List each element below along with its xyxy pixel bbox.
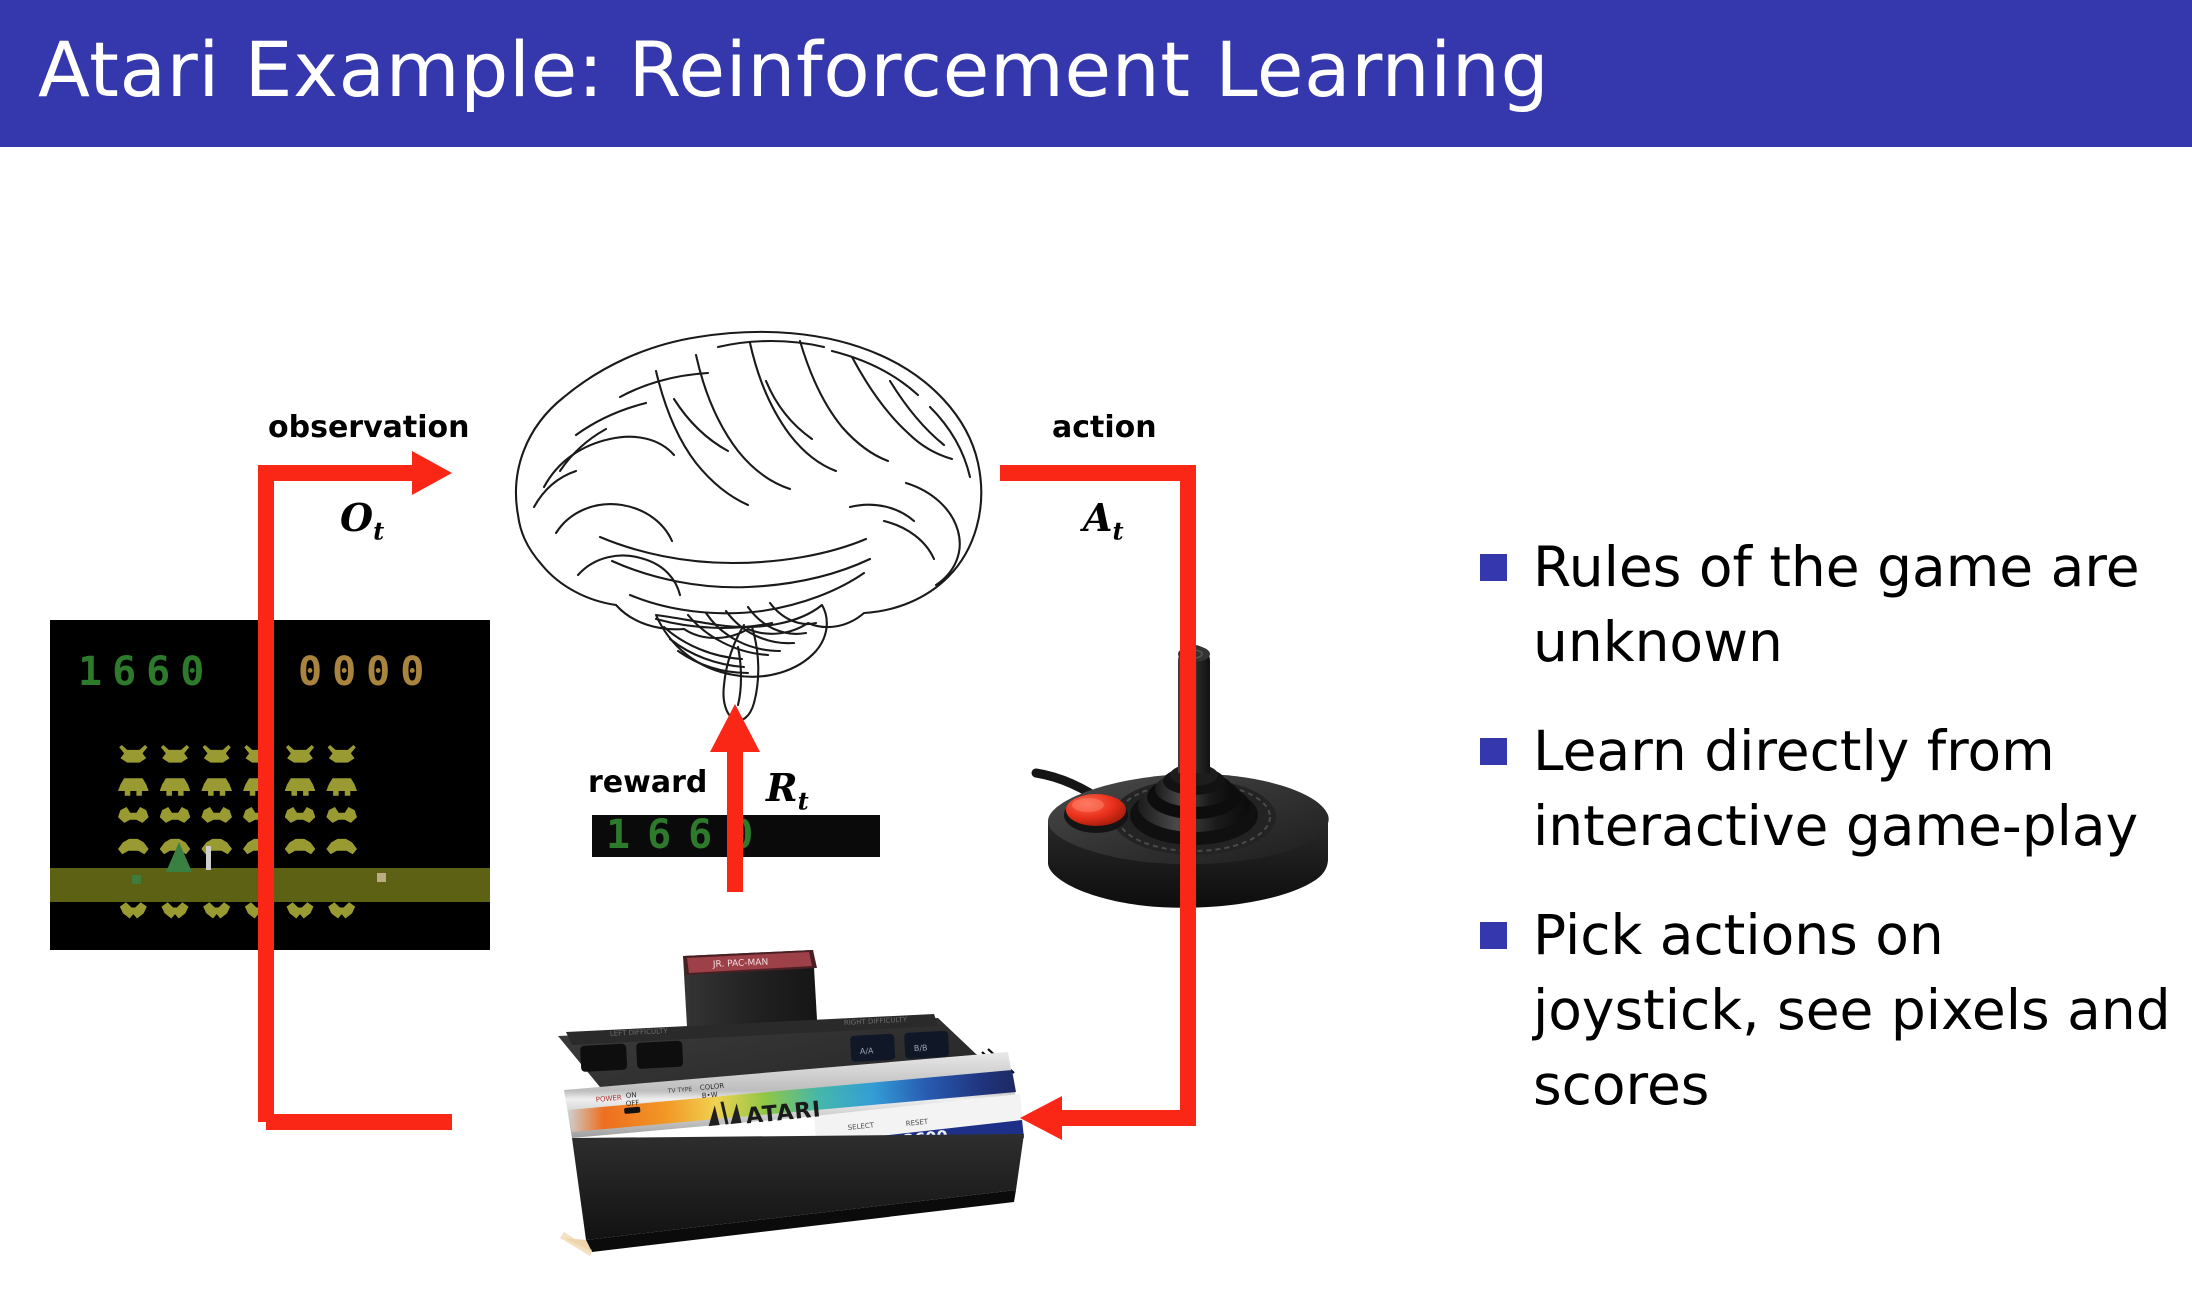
invader-sprite <box>326 838 357 860</box>
player-cannon-sprite <box>206 846 211 870</box>
bw-label: B•W <box>701 1091 718 1100</box>
observation-symbol-base: O <box>340 495 373 540</box>
page-title: Atari Example: Reinforcement Learning <box>38 10 1549 130</box>
bullet-text: Pick actions on joystick, see pixels and… <box>1533 898 2180 1123</box>
invader-sprite <box>243 745 274 767</box>
invader-sprite <box>243 776 274 798</box>
action-symbol-base: A <box>1083 495 1112 540</box>
bullet-item: Learn directly from interactive game-pla… <box>1480 714 2180 864</box>
invader-sprite <box>243 838 274 860</box>
switch-b-label: B/B <box>914 1043 928 1053</box>
observation-symbol: Ot <box>340 495 384 546</box>
slide-title-bar: Atari Example: Reinforcement Learning <box>0 0 2192 147</box>
bullet-text: Learn directly from interactive game-pla… <box>1533 714 2180 864</box>
bullet-list: Rules of the game are unknown Learn dire… <box>1480 530 2180 1157</box>
invader-sprite <box>160 900 191 922</box>
observation-arrowhead <box>412 451 452 495</box>
score-player-one: 1660 <box>78 655 214 689</box>
invader-row <box>118 807 368 838</box>
invader-sprite <box>285 776 316 798</box>
invader-sprite <box>160 745 191 767</box>
score-player-two: 0000 <box>298 655 434 689</box>
invader-sprite <box>160 776 191 798</box>
game-ground <box>50 868 490 902</box>
atari-joystick <box>1018 625 1348 915</box>
invader-sprite <box>118 745 149 767</box>
observation-label: observation <box>268 410 469 445</box>
bullet-marker-icon <box>1480 922 1507 949</box>
invader-sprite <box>243 807 274 829</box>
reward-score-strip: 1660 <box>592 815 880 857</box>
slide-root: Atari Example: Reinforcement Learning <box>0 0 2192 1302</box>
reward-symbol: Rt <box>766 765 809 816</box>
invader-row <box>118 745 368 776</box>
invader-sprite <box>118 900 149 922</box>
brain-illustration <box>460 275 1020 725</box>
ground-detail <box>377 873 386 882</box>
bullet-item: Rules of the game are unknown <box>1480 530 2180 680</box>
invader-sprite <box>201 745 232 767</box>
space-invaders-game-screen: 1660 0000 <box>50 620 490 950</box>
invader-row <box>118 776 368 807</box>
invader-sprite <box>118 838 149 860</box>
bullet-text: Rules of the game are unknown <box>1533 530 2180 680</box>
bullet-marker-icon <box>1480 554 1507 581</box>
observation-symbol-sub: t <box>373 517 384 546</box>
invader-sprite <box>326 745 357 767</box>
reward-score-value: 1660 <box>606 815 770 856</box>
power-off-label: OFF <box>625 1099 639 1108</box>
atari-2600-console: JR. PAC-MAN A/A B/B LEFT DIFFICULTY RIGH… <box>468 940 1028 1270</box>
invader-sprite <box>201 900 232 922</box>
bullet-item: Pick actions on joystick, see pixels and… <box>1480 898 2180 1123</box>
invader-sprite <box>285 838 316 860</box>
invader-sprite <box>285 745 316 767</box>
action-symbol: At <box>1083 495 1124 546</box>
invader-sprite <box>243 900 274 922</box>
invader-sprite <box>201 807 232 829</box>
reward-symbol-sub: t <box>798 787 809 816</box>
invader-sprite <box>201 776 232 798</box>
invader-sprite <box>326 776 357 798</box>
invader-sprite <box>160 807 191 829</box>
invader-grid <box>118 745 368 931</box>
invader-row <box>118 900 368 931</box>
invader-sprite <box>285 900 316 922</box>
action-label: action <box>1052 410 1157 445</box>
invader-sprite <box>285 807 316 829</box>
invader-sprite <box>326 900 357 922</box>
tree-sprite <box>166 842 192 872</box>
invader-sprite <box>326 807 357 829</box>
game-score-row: 1660 0000 <box>50 655 490 689</box>
switch-a-label: A/A <box>860 1046 875 1056</box>
bullet-marker-icon <box>1480 738 1507 765</box>
reward-symbol-base: R <box>766 765 798 810</box>
invader-row <box>118 838 368 869</box>
reward-label: reward <box>588 765 707 800</box>
ground-detail <box>132 875 141 884</box>
invader-sprite <box>118 776 149 798</box>
action-symbol-sub: t <box>1112 517 1123 546</box>
invader-sprite <box>118 807 149 829</box>
